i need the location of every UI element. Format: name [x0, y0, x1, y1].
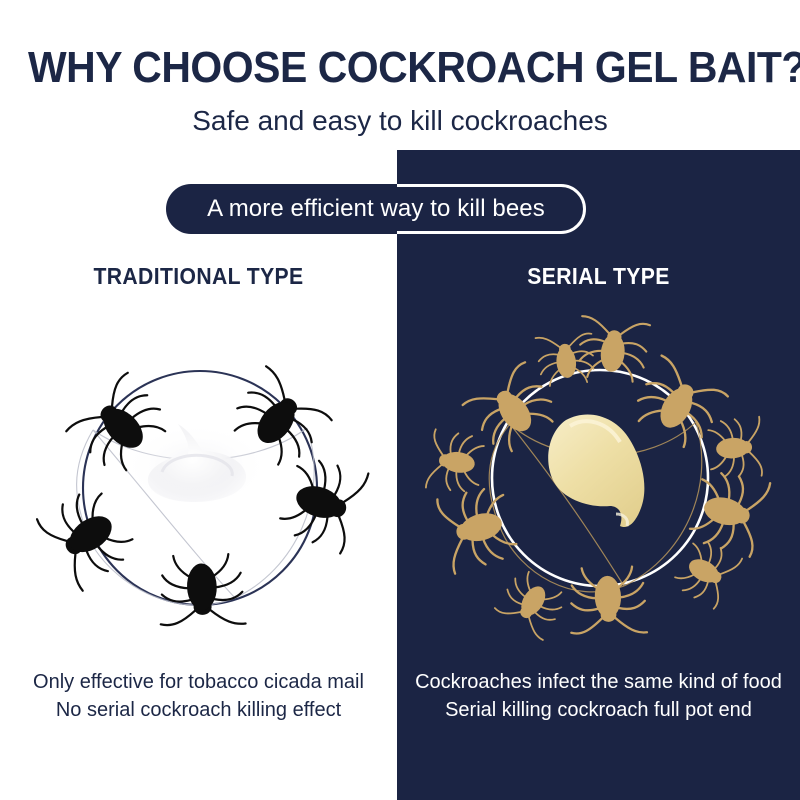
traditional-type-diagram — [10, 320, 390, 650]
left-caption-line-1: Only effective for tobacco cicada mail — [33, 671, 364, 693]
left-caption-line-2: No serial cockroach killing effect — [0, 696, 397, 724]
right-panel-heading: SERIAL TYPE — [413, 263, 784, 290]
left-panel-heading: TRADITIONAL TYPE — [16, 263, 381, 290]
roach — [463, 360, 563, 458]
roach — [158, 554, 245, 627]
page-title: WHY CHOOSE COCKROACH GEL BAIT? — [28, 44, 772, 92]
right-caption-line-2: Serial killing cockroach full pot end — [397, 696, 800, 724]
roach — [671, 535, 743, 610]
infographic-poster: WHY CHOOSE COCKROACH GEL BAIT? Safe and … — [0, 0, 800, 800]
gel-bait-blob — [548, 414, 644, 527]
roach — [576, 316, 650, 383]
roach — [628, 356, 729, 454]
roach — [708, 417, 764, 480]
page-subtitle: Safe and easy to kill cockroaches — [0, 104, 800, 138]
roach — [569, 566, 647, 635]
banner-pill-label: A more efficient way to kill bees — [207, 195, 545, 223]
right-panel-caption: Cockroaches infect the same kind of food… — [397, 668, 800, 724]
roach — [687, 467, 770, 557]
roach — [435, 483, 519, 574]
roach — [276, 452, 369, 554]
gel-bait-blob — [121, 422, 271, 510]
banner-pill: A more efficient way to kill bees — [166, 184, 586, 234]
left-panel-caption: Only effective for tobacco cicada mail N… — [0, 668, 397, 724]
roach — [426, 429, 485, 495]
right-caption-line-1: Cockroaches infect the same kind of food — [415, 671, 782, 693]
serial-type-diagram — [410, 300, 790, 660]
roach — [35, 481, 141, 591]
